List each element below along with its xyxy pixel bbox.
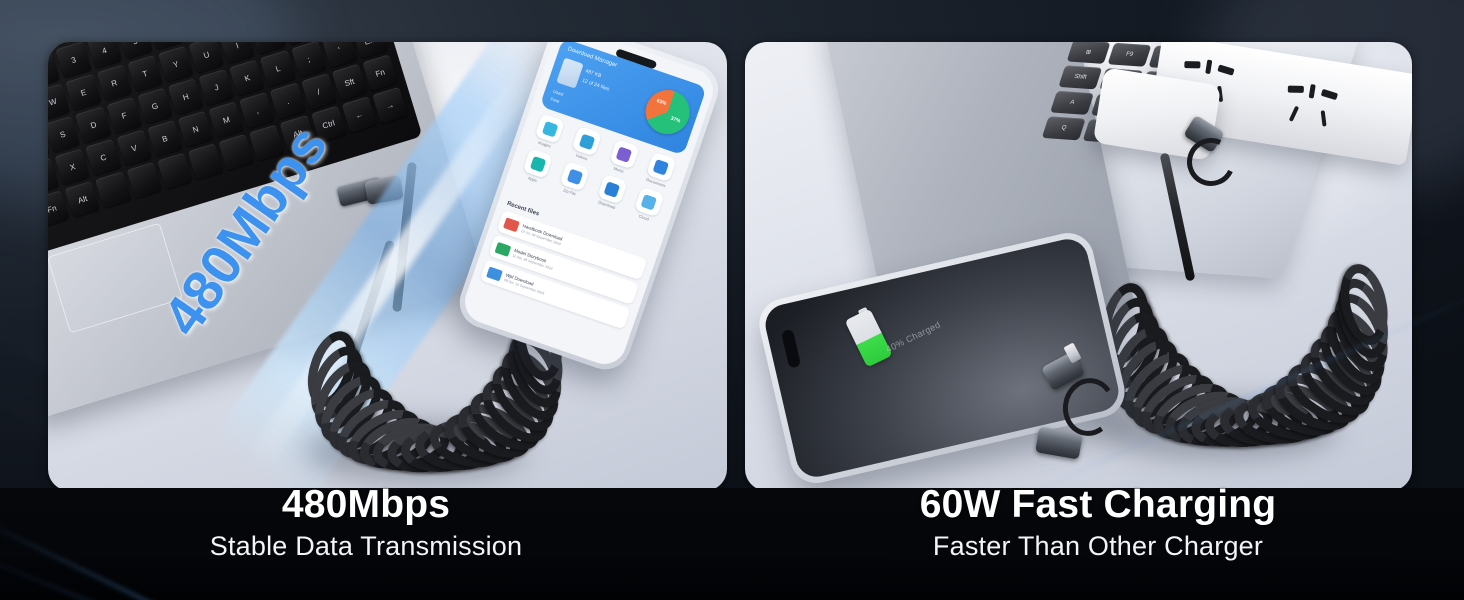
keyboard-key: G	[137, 88, 173, 125]
socket-slot-l	[1184, 61, 1200, 68]
keyboard-key: B	[147, 120, 183, 157]
app-label: Music	[613, 166, 625, 174]
socket-slot-r	[1217, 64, 1234, 75]
app-glyph-icon	[641, 194, 658, 211]
caption-row: 480Mbps Stable Data Transmission 60W Fas…	[0, 478, 1464, 600]
file-type-icon	[495, 241, 512, 256]
recent-file-text: Handbook Download12 Jul, 09 September 20…	[520, 223, 563, 246]
socket2-slot-bl	[1289, 106, 1299, 122]
battery-status-label: 40% Charged	[884, 319, 942, 354]
keyboard-key: K	[229, 59, 265, 96]
keyboard-key	[95, 171, 131, 208]
file-type-icon	[503, 217, 520, 232]
socket-slot-c	[1205, 60, 1212, 75]
app-glyph-icon	[653, 159, 670, 176]
app-glyph-icon	[616, 146, 633, 163]
storage-pie-chart: 63% 37%	[640, 84, 696, 140]
keyboard-key: '	[322, 42, 358, 68]
app-cell[interactable]: Download	[590, 172, 632, 212]
caption-right: 60W Fast Charging Faster Than Other Char…	[732, 478, 1464, 600]
ac-socket-2	[1277, 78, 1359, 143]
keyboard-key	[126, 162, 162, 199]
banner-stage: EscF1F2F3F4F5F6F7F8F9F10F11F12~123456789…	[0, 0, 1464, 600]
keyboard-key: Alt	[65, 181, 101, 218]
app-glyph-icon	[567, 168, 584, 185]
keyboard-key: L	[260, 50, 296, 87]
socket2-slot-c	[1309, 84, 1316, 99]
app-glyph-icon	[542, 120, 559, 137]
app-cell[interactable]: Documents	[639, 150, 681, 190]
recent-files-list: Handbook Download12 Jul, 09 September 20…	[480, 210, 648, 329]
socket2-slot-l	[1288, 86, 1304, 93]
app-tile[interactable]	[609, 139, 640, 170]
keyboard-key: S	[48, 116, 80, 153]
keyboard-key: E	[66, 74, 102, 111]
keyboard-key	[157, 153, 193, 190]
battery-indicator-icon	[845, 308, 893, 367]
caption-left-title: 480Mbps	[282, 482, 450, 528]
keyboard-key: H	[168, 78, 204, 115]
keyboard-key: Q	[1042, 116, 1086, 140]
keyboard-key: J	[199, 69, 235, 106]
caption-right-title: 60W Fast Charging	[920, 482, 1277, 528]
pie-label-free: 37%	[670, 116, 681, 125]
storage-file-meta: 12 of 24 files	[581, 77, 610, 94]
keyboard-key	[218, 134, 254, 171]
keyboard-key: F9	[1108, 43, 1152, 67]
panel-data-transfer: EscF1F2F3F4F5F6F7F8F9F10F11F12~123456789…	[48, 42, 727, 491]
app-cell[interactable]: Videos	[565, 124, 607, 164]
coiled-cable-left	[280, 310, 530, 491]
app-glyph-icon	[579, 133, 596, 150]
keyboard-key: D	[76, 106, 112, 143]
dynamic-island	[781, 329, 801, 369]
socket2-slot-br	[1321, 110, 1327, 126]
keyboard-key: Sft	[331, 64, 367, 101]
app-glyph-icon	[530, 155, 547, 172]
app-cell[interactable]: Cloud	[627, 185, 669, 225]
keyboard-key: Shift	[1058, 65, 1102, 89]
keyboard-key: A	[1050, 91, 1094, 115]
keyboard-key: T	[127, 55, 163, 92]
caption-left-subtitle: Stable Data Transmission	[210, 528, 522, 564]
keyboard-key: M	[208, 101, 244, 138]
app-tile[interactable]	[634, 187, 665, 218]
keyboard-key: ⊞	[1067, 42, 1111, 64]
recent-file-text: Wpf Download08 Apr, 14 September 2024	[503, 272, 547, 295]
keyboard-key: F	[106, 97, 142, 134]
caption-right-subtitle: Faster Than Other Charger	[933, 528, 1263, 564]
panel-fast-charging: ⊞F9CtrlZShiftCapsTab↵ASDFQWER	[745, 42, 1412, 491]
app-tile[interactable]	[523, 148, 554, 179]
app-label: Cloud	[638, 213, 650, 221]
app-glyph-icon	[604, 181, 621, 198]
socket2-slot-r	[1321, 89, 1338, 100]
app-cell[interactable]: Images	[528, 112, 570, 152]
caption-left: 480Mbps Stable Data Transmission	[0, 478, 732, 600]
keyboard-key: /	[301, 73, 337, 110]
recent-file-text: Model Storybook11 Apr, 28 September 2024	[512, 248, 555, 271]
keyboard-key: ;	[291, 42, 327, 77]
document-icon	[556, 58, 583, 89]
keyboard-key: R	[96, 64, 132, 101]
keyboard-key: V	[116, 129, 152, 166]
app-cell[interactable]: Zip File	[553, 159, 595, 199]
app-label: Apps	[527, 175, 537, 183]
app-cell[interactable]: Apps	[516, 147, 558, 187]
keyboard-key: X	[55, 148, 91, 185]
keyboard-key: ,	[239, 92, 275, 129]
file-type-icon	[486, 266, 503, 281]
keyboard-key	[188, 143, 224, 180]
pie-label-used: 63%	[656, 98, 667, 107]
keyboard-key: N	[178, 111, 214, 148]
keyboard-key: →	[372, 87, 408, 124]
keyboard-key: ←	[341, 96, 377, 133]
app-cell[interactable]: Music	[602, 137, 644, 177]
keyboard-key: U	[189, 42, 225, 73]
keyboard-key: Y	[158, 46, 194, 83]
keyboard-key: C	[85, 139, 121, 176]
keyboard-key: 3	[56, 42, 92, 78]
keyboard-key: Fn	[362, 54, 398, 91]
keyboard-key: 4	[86, 42, 122, 69]
